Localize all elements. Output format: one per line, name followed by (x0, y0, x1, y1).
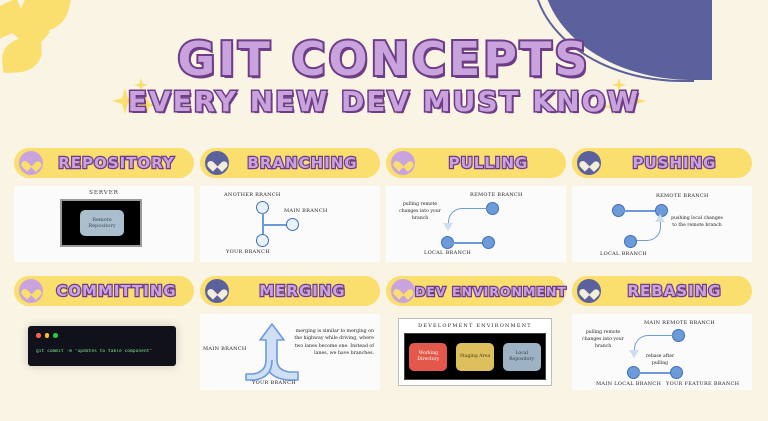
dev-env-stage-container: Working Directory Staging Area Local Rep… (404, 333, 546, 380)
card-title: PULLING (415, 154, 566, 172)
card-committing[interactable]: COMMITTING git commit -m "updates to tab… (14, 276, 194, 390)
figure-dev-environment: DEVELOPMENT ENVIRONMENT Working Director… (386, 314, 566, 390)
card-dev-environment[interactable]: DEV ENVIRONMENT DEVELOPMENT ENVIRONMENT … (386, 276, 566, 390)
card-title: MERGING (229, 282, 380, 300)
minimize-dot-icon (45, 333, 50, 338)
label-your-branch: YOUR BRANCH (226, 249, 270, 255)
server-label: SERVER (14, 190, 194, 196)
heart-icon (397, 157, 410, 170)
note-pulling: pulling remote changes into your branch (576, 330, 630, 351)
label-your-branch: YOUR BRANCH (252, 380, 296, 386)
label-local-branch: LOCAL BRANCH (424, 250, 471, 256)
label-main-remote-branch: MAIN REMOTE BRANCH (644, 320, 715, 326)
heart-icon (583, 285, 596, 298)
card-repository[interactable]: REPOSITORY SERVER Remote Repository (14, 148, 194, 262)
node-main-branch (286, 218, 299, 231)
terminal-dots (36, 333, 58, 338)
node-local-branch-2 (482, 236, 495, 249)
card-header-pill: MERGING (200, 276, 380, 306)
label-remote-branch: REMOTE BRANCH (470, 192, 523, 198)
heart-badge (577, 151, 601, 175)
heart-badge (391, 279, 415, 303)
edge-horizontal (262, 224, 288, 226)
heart-icon (25, 157, 38, 170)
maximize-dot-icon (53, 333, 58, 338)
card-merging[interactable]: MERGING MAIN BRANCH YOUR BRANCH merging … (200, 276, 380, 390)
watermark: · · · (202, 384, 210, 388)
header: GIT CONCEPTS EVERY NEW DEV MUST KNOW (0, 36, 768, 116)
heart-badge (205, 279, 229, 303)
terminal-window[interactable]: git commit -m "updates to table componen… (28, 326, 176, 366)
card-header-pill: COMMITTING (14, 276, 194, 306)
card-header-pill: REBASING (572, 276, 752, 306)
card-rebasing[interactable]: REBASING MAIN REMOTE BRANCH pulling remo… (572, 276, 752, 390)
label-main-branch: MAIN BRANCH (203, 346, 247, 352)
label-another-branch: ANOTHER BRANCH (224, 192, 281, 198)
label-your-feature-branch: YOUR FEATURE BRANCH (666, 381, 739, 387)
heart-icon (583, 157, 596, 170)
rebase-curve (634, 335, 677, 352)
heart-badge (205, 151, 229, 175)
note-pulling: pulling remote changes into your branch (394, 202, 446, 223)
concept-row-2: COMMITTING git commit -m "updates to tab… (14, 276, 758, 390)
staging-area-box: Staging Area (456, 343, 494, 371)
pull-arrow-icon (443, 223, 453, 231)
card-branching[interactable]: BRANCHING ANOTHER BRANCH MAIN BRANCH YOU… (200, 148, 380, 262)
figure-rebasing: MAIN REMOTE BRANCH pulling remote change… (572, 314, 752, 390)
heart-badge (577, 279, 601, 303)
figure-branching: ANOTHER BRANCH MAIN BRANCH YOUR BRANCH (200, 186, 380, 262)
heart-icon (25, 285, 38, 298)
heart-icon (211, 157, 224, 170)
card-header-pill: PUSHING (572, 148, 752, 178)
node-your-branch (256, 234, 269, 247)
close-dot-icon (36, 333, 41, 338)
card-header-pill: REPOSITORY (14, 148, 194, 178)
note-merging: merging is similar to merging on the hig… (288, 328, 374, 357)
card-title: REBASING (601, 282, 752, 300)
concept-grid: REPOSITORY SERVER Remote Repository BRAN… (14, 148, 758, 404)
dev-env-panel: DEVELOPMENT ENVIRONMENT Working Director… (398, 318, 552, 386)
heart-badge (19, 151, 43, 175)
local-repository-box: Local Repository (503, 343, 541, 371)
label-main-branch: MAIN BRANCH (284, 208, 328, 214)
node-local-branch (624, 235, 637, 248)
card-header-pill: DEV ENVIRONMENT (386, 276, 566, 306)
concept-row-1: REPOSITORY SERVER Remote Repository BRAN… (14, 148, 758, 262)
edge-local (638, 372, 672, 374)
note-pushing: pushing local changes to the remote bran… (670, 216, 724, 230)
heart-icon (397, 285, 410, 298)
heart-icon (211, 285, 224, 298)
heart-badge (19, 279, 43, 303)
label-remote-branch: REMOTE BRANCH (656, 193, 709, 199)
label-main-local-branch: MAIN LOCAL BRANCH (596, 381, 661, 387)
figure-repository: SERVER Remote Repository (14, 186, 194, 262)
server-box: Remote Repository (60, 199, 142, 247)
working-directory-box: Working Directory (409, 343, 447, 371)
card-header-pill: PULLING (386, 148, 566, 178)
node-feature-branch (670, 366, 683, 379)
card-pushing[interactable]: PUSHING REMOTE BRANCH pushing local chan… (572, 148, 752, 262)
card-title: BRANCHING (229, 154, 380, 172)
figure-pushing: REMOTE BRANCH pushing local changes to t… (572, 186, 752, 262)
edge-local (452, 242, 484, 244)
card-header-pill: BRANCHING (200, 148, 380, 178)
push-arrow-icon (655, 214, 665, 222)
card-title: DEV ENVIRONMENT (415, 284, 571, 299)
page-title: GIT CONCEPTS (0, 36, 768, 82)
pull-curve (448, 208, 491, 225)
card-title: PUSHING (601, 154, 752, 172)
card-title: REPOSITORY (43, 154, 194, 172)
heart-badge (391, 151, 415, 175)
card-pulling[interactable]: PULLING REMOTE BRANCH pulling remote cha… (386, 148, 566, 262)
figure-merging: MAIN BRANCH YOUR BRANCH merging is simil… (200, 314, 380, 390)
terminal-command: git commit -m "updates to table componen… (36, 349, 170, 354)
dev-env-title: DEVELOPMENT ENVIRONMENT (399, 323, 551, 329)
remote-repository-box: Remote Repository (80, 210, 124, 236)
watermark: · · · (574, 384, 582, 388)
card-title: COMMITTING (43, 282, 194, 300)
figure-pulling: REMOTE BRANCH pulling remote changes int… (386, 186, 566, 262)
page-subtitle: EVERY NEW DEV MUST KNOW (0, 88, 768, 116)
label-local-branch: LOCAL BRANCH (600, 251, 647, 257)
figure-committing: git commit -m "updates to table componen… (14, 314, 194, 390)
edge-remote (623, 210, 657, 212)
